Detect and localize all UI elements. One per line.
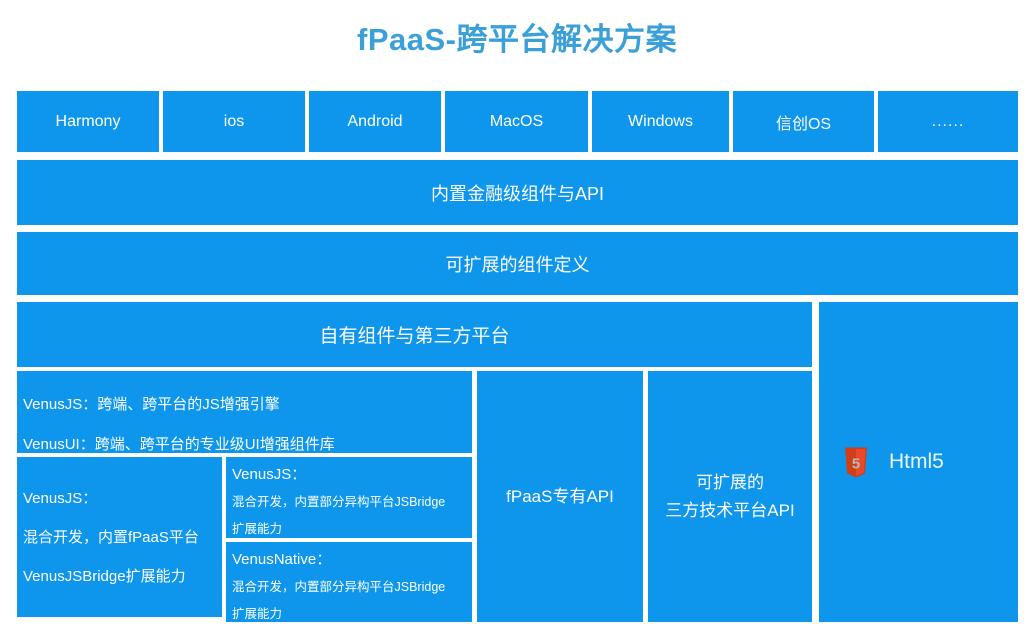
venusnative-body-line-1: 混合开发，内置部分异构平台JSBridge (232, 574, 466, 601)
third-party-api-label-line-1: 可扩展的 (665, 469, 794, 497)
venusjs-heading: VenusJS： (23, 479, 216, 518)
html5-digit: 5 (852, 455, 860, 472)
page-title: fPaaS-跨平台解决方案 (0, 14, 1034, 59)
venusjs-heterogeneous-block[interactable]: VenusJS： 混合开发，内置部分异构平台JSBridge 扩展能力 (226, 457, 472, 538)
fpaas-api-label: fPaaS专有API (506, 483, 614, 511)
venusui-library-line: VenusUI：跨端、跨平台的专业级UI增强组件库 (23, 425, 466, 453)
venusjs-body-line-2: VenusJSBridge扩展能力 (23, 557, 216, 596)
venusnative-body-line-2: 扩展能力 (232, 601, 466, 622)
os-cell-xinchuang-os[interactable]: 信创OS (733, 91, 874, 152)
band-label: 内置金融级组件与API (431, 180, 604, 206)
venusnative-heterogeneous-block[interactable]: VenusNative： 混合开发，内置部分异构平台JSBridge 扩展能力 (226, 542, 472, 622)
os-cell-ios[interactable]: ios (163, 91, 305, 152)
html5-shield-icon: 5 (843, 447, 869, 478)
os-cell-label: ios (224, 113, 244, 131)
fpaas-proprietary-api-column[interactable]: fPaaS专有API (477, 371, 643, 622)
venusjs-hybrid-fpaas-block[interactable]: VenusJS： 混合开发，内置fPaaS平台 VenusJSBridge扩展能… (17, 457, 222, 617)
os-cell-label: MacOS (490, 113, 543, 131)
html5-label: Html5 (889, 450, 944, 474)
venusjs-engine-line: VenusJS：跨端、跨平台的JS增强引擎 (23, 385, 466, 425)
third-party-tech-platform-api-column[interactable]: 可扩展的 三方技术平台API (648, 371, 812, 622)
os-cell-label: Windows (628, 113, 693, 131)
venusnative-heading: VenusNative： (232, 546, 466, 574)
band-extensible-component-definition[interactable]: 可扩展的组件定义 (17, 232, 1018, 295)
band-builtin-financial-components-api[interactable]: 内置金融级组件与API (17, 160, 1018, 225)
venusjs-body-line-1: 混合开发，内置部分异构平台JSBridge (232, 489, 466, 516)
third-party-api-label-line-2: 三方技术平台API (665, 497, 794, 525)
os-cell-android[interactable]: Android (309, 91, 441, 152)
band-label: 可扩展的组件定义 (446, 251, 590, 277)
venusjs-heading: VenusJS： (232, 461, 466, 489)
os-cell-label: 信创OS (776, 110, 831, 134)
os-cell-windows[interactable]: Windows (592, 91, 729, 152)
venusjs-body-line-2: 扩展能力 (232, 516, 466, 538)
venusjs-body-line-1: 混合开发，内置fPaaS平台 (23, 518, 216, 557)
os-cell-label: Android (347, 113, 402, 131)
os-cell-more[interactable]: ...... (878, 91, 1018, 152)
band-own-and-third-party-platform[interactable]: 自有组件与第三方平台 (17, 302, 812, 367)
os-cell-label: Harmony (56, 113, 121, 131)
os-cell-macos[interactable]: MacOS (445, 91, 588, 152)
os-cell-harmony[interactable]: Harmony (17, 91, 159, 152)
band-label: 自有组件与第三方平台 (319, 321, 509, 348)
html5-panel[interactable]: 5 Html5 (819, 302, 1018, 622)
venus-engine-description-block[interactable]: VenusJS：跨端、跨平台的JS增强引擎 VenusUI：跨端、跨平台的专业级… (17, 371, 472, 453)
os-cell-label: ...... (932, 113, 965, 131)
fpaas-architecture-diagram: fPaaS-跨平台解决方案 Harmony ios Android MacOS … (0, 0, 1034, 634)
